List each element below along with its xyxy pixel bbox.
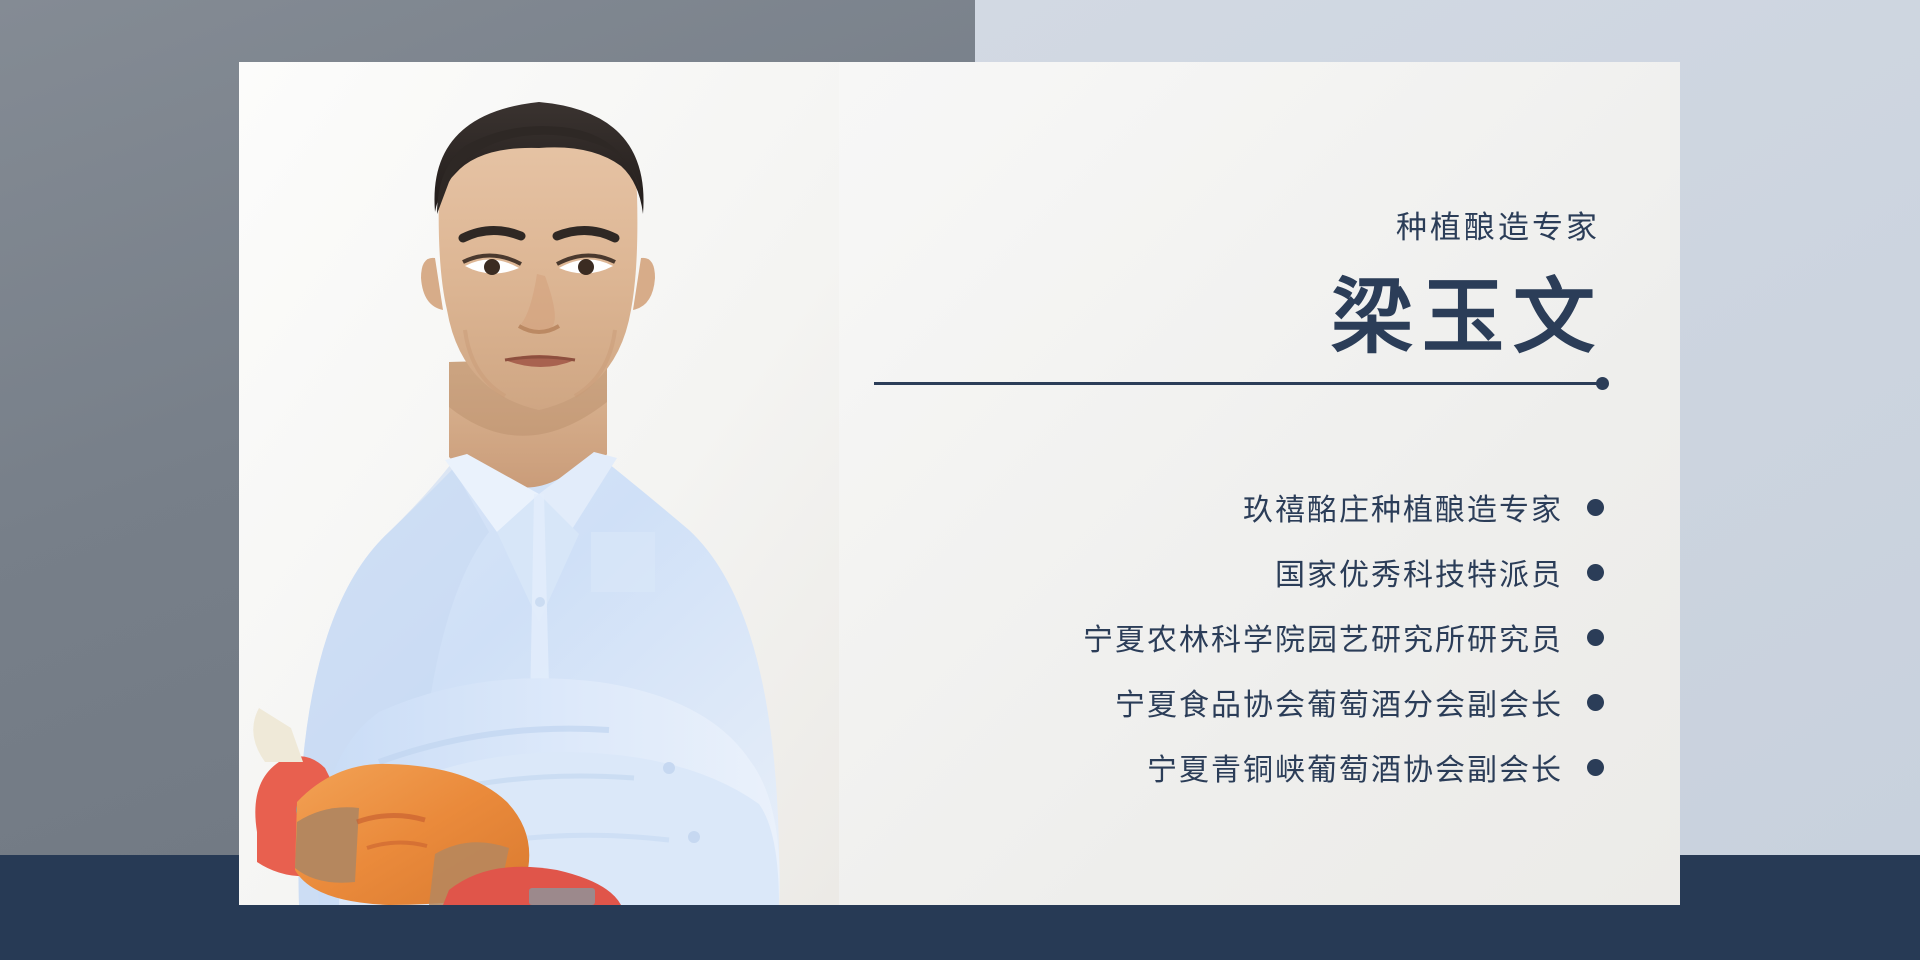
profile-text-column: 种植酿造专家 梁玉文 玖禧酩庄种植酿造专家 国家优秀科技特派员 宁夏农林科学院园… — [839, 62, 1680, 905]
list-item: 宁夏农林科学院园艺研究所研究员 — [844, 610, 1604, 664]
credential-label: 宁夏青铜峡葡萄酒协会副会长 — [1147, 745, 1563, 789]
divider-end-dot — [1596, 377, 1609, 390]
list-item: 宁夏食品协会葡萄酒分会副会长 — [844, 675, 1604, 729]
bullet-dot-icon — [1587, 564, 1604, 581]
role-title: 种植酿造专家 — [1396, 202, 1600, 247]
list-item: 宁夏青铜峡葡萄酒协会副会长 — [844, 740, 1604, 794]
bullet-dot-icon — [1587, 499, 1604, 516]
background-strip-white — [0, 960, 1920, 970]
credential-label: 宁夏农林科学院园艺研究所研究员 — [1083, 615, 1563, 659]
person-name: 梁玉文 — [1331, 250, 1604, 369]
credential-label: 玖禧酩庄种植酿造专家 — [1243, 485, 1563, 529]
divider-line — [874, 382, 1602, 385]
profile-card: 种植酿造专家 梁玉文 玖禧酩庄种植酿造专家 国家优秀科技特派员 宁夏农林科学院园… — [239, 62, 1680, 905]
credential-label: 宁夏食品协会葡萄酒分会副会长 — [1115, 680, 1563, 724]
bullet-dot-icon — [1587, 629, 1604, 646]
portrait-photo — [239, 62, 839, 905]
bullet-dot-icon — [1587, 759, 1604, 776]
bullet-dot-icon — [1587, 694, 1604, 711]
credentials-list: 玖禧酩庄种植酿造专家 国家优秀科技特派员 宁夏农林科学院园艺研究所研究员 宁夏食… — [844, 480, 1604, 805]
credential-label: 国家优秀科技特派员 — [1275, 550, 1563, 594]
list-item: 国家优秀科技特派员 — [844, 545, 1604, 599]
list-item: 玖禧酩庄种植酿造专家 — [844, 480, 1604, 534]
